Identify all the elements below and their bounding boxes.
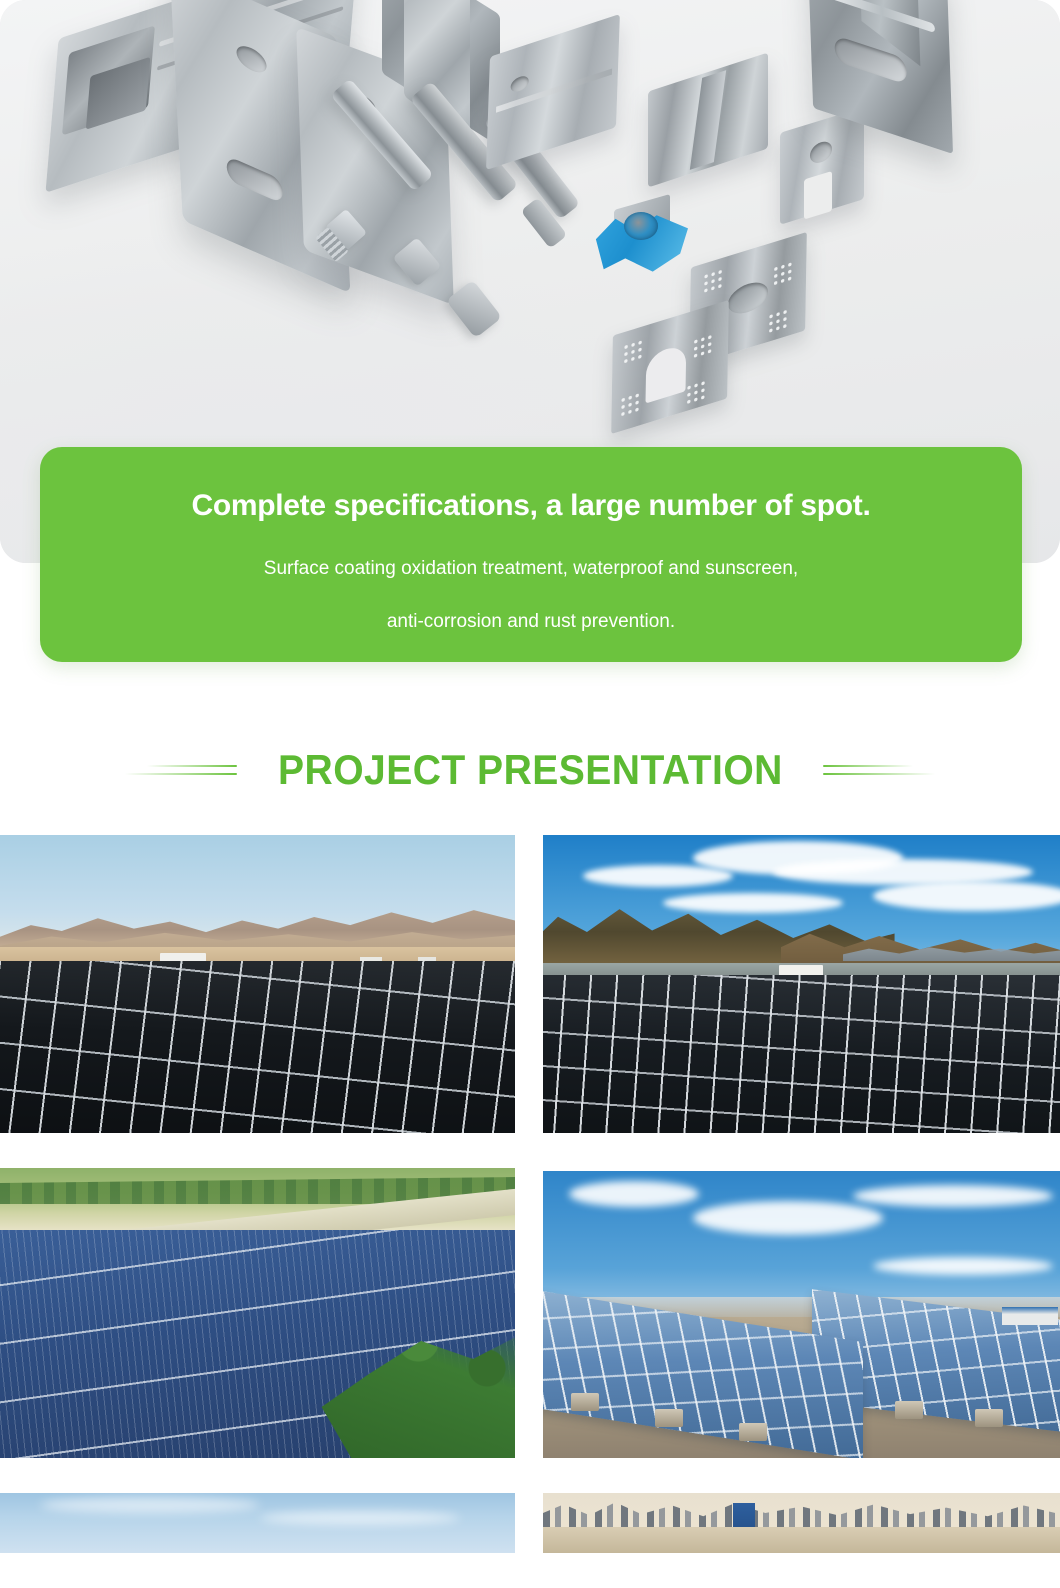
heading-rule-left-icon: [125, 757, 237, 783]
banner-subtitle-line-2: anti-corrosion and rust prevention.: [40, 581, 1022, 634]
grounding-teeth: [767, 307, 789, 334]
project-gallery: [0, 835, 1060, 1588]
part-stainless-grounding-plate-keyhole: [611, 300, 729, 434]
grounding-teeth: [772, 260, 794, 287]
section-title: PROJECT PRESENTATION: [278, 746, 783, 794]
clamp-notch: [804, 171, 832, 220]
photo-plateau-solar-farm: [543, 835, 1060, 1133]
rail-open-face: [62, 25, 155, 135]
cloud: [569, 1181, 699, 1207]
hero-section: Complete specifications, a large number …: [0, 0, 1060, 680]
gallery-item-urban-solar-skyline[interactable]: [543, 1493, 1060, 1553]
part-aluminum-mid-clamp: [648, 53, 768, 188]
concrete-footing: [895, 1401, 923, 1419]
banner-subtitle-line-1: Surface coating oxidation treatment, wat…: [40, 522, 1022, 581]
gallery-row: [0, 1168, 1060, 1458]
rail-inner-cavity: [86, 57, 151, 130]
banner-title: Complete specifications, a large number …: [40, 447, 1022, 522]
feature-banner: Complete specifications, a large number …: [40, 447, 1022, 662]
gallery-item-solar-project-sky[interactable]: [0, 1493, 515, 1553]
clamp-bolt-hole: [510, 74, 528, 94]
gallery-item-ground-mount-array[interactable]: [543, 1171, 1060, 1458]
bolt-hex-head: [446, 280, 502, 339]
cloud: [873, 881, 1060, 911]
cloud: [853, 1185, 1053, 1207]
site-shed: [1002, 1307, 1058, 1325]
solar-panel-array: [0, 961, 515, 1133]
grounding-teeth: [692, 332, 714, 359]
gallery-row: [0, 835, 1060, 1133]
clamp-center-channel: [690, 70, 726, 170]
gallery-item-plateau-solar-farm[interactable]: [543, 835, 1060, 1133]
solar-panel-array: [543, 975, 1060, 1133]
part-aluminum-t-block-clamp: [780, 107, 864, 225]
photo-desert-solar-farm: [0, 835, 515, 1133]
grounding-teeth: [622, 338, 644, 365]
cloud: [873, 1257, 1053, 1275]
bracket-slot-hole: [226, 155, 283, 204]
concrete-footing: [739, 1423, 767, 1441]
cloud-wisp: [40, 1497, 260, 1513]
t-nut-threaded-ring: [624, 212, 658, 240]
concrete-footing: [655, 1409, 683, 1427]
concrete-footing: [571, 1393, 599, 1411]
grounding-plate-oval-hole: [728, 278, 768, 318]
concrete-footing: [975, 1409, 1003, 1427]
photo-ground-mount-array: [543, 1171, 1060, 1458]
grounding-teeth: [619, 391, 641, 418]
bracket-round-hole: [236, 41, 267, 77]
photo-aerial-pv-plant: [0, 1168, 515, 1458]
cloud: [583, 865, 733, 887]
cloud-wisp: [260, 1511, 460, 1525]
photo-urban-solar-skyline: [543, 1493, 1060, 1553]
heading-rule-right-icon: [823, 757, 935, 783]
part-aluminum-end-clamp: [486, 14, 620, 170]
section-heading: PROJECT PRESENTATION: [0, 722, 1060, 818]
photo-solar-project-sky: [0, 1493, 515, 1553]
low-rise-buildings: [543, 1527, 1060, 1553]
gallery-item-aerial-pv-plant[interactable]: [0, 1168, 515, 1458]
gallery-item-desert-solar-farm[interactable]: [0, 835, 515, 1133]
clamp-bolt-hole: [810, 139, 832, 166]
grounding-teeth: [685, 378, 707, 405]
grounding-plate-keyhole: [645, 343, 686, 404]
cloud: [693, 1201, 883, 1235]
grounding-teeth: [702, 267, 724, 294]
gallery-row: [0, 1493, 1060, 1553]
cloud: [663, 893, 843, 913]
